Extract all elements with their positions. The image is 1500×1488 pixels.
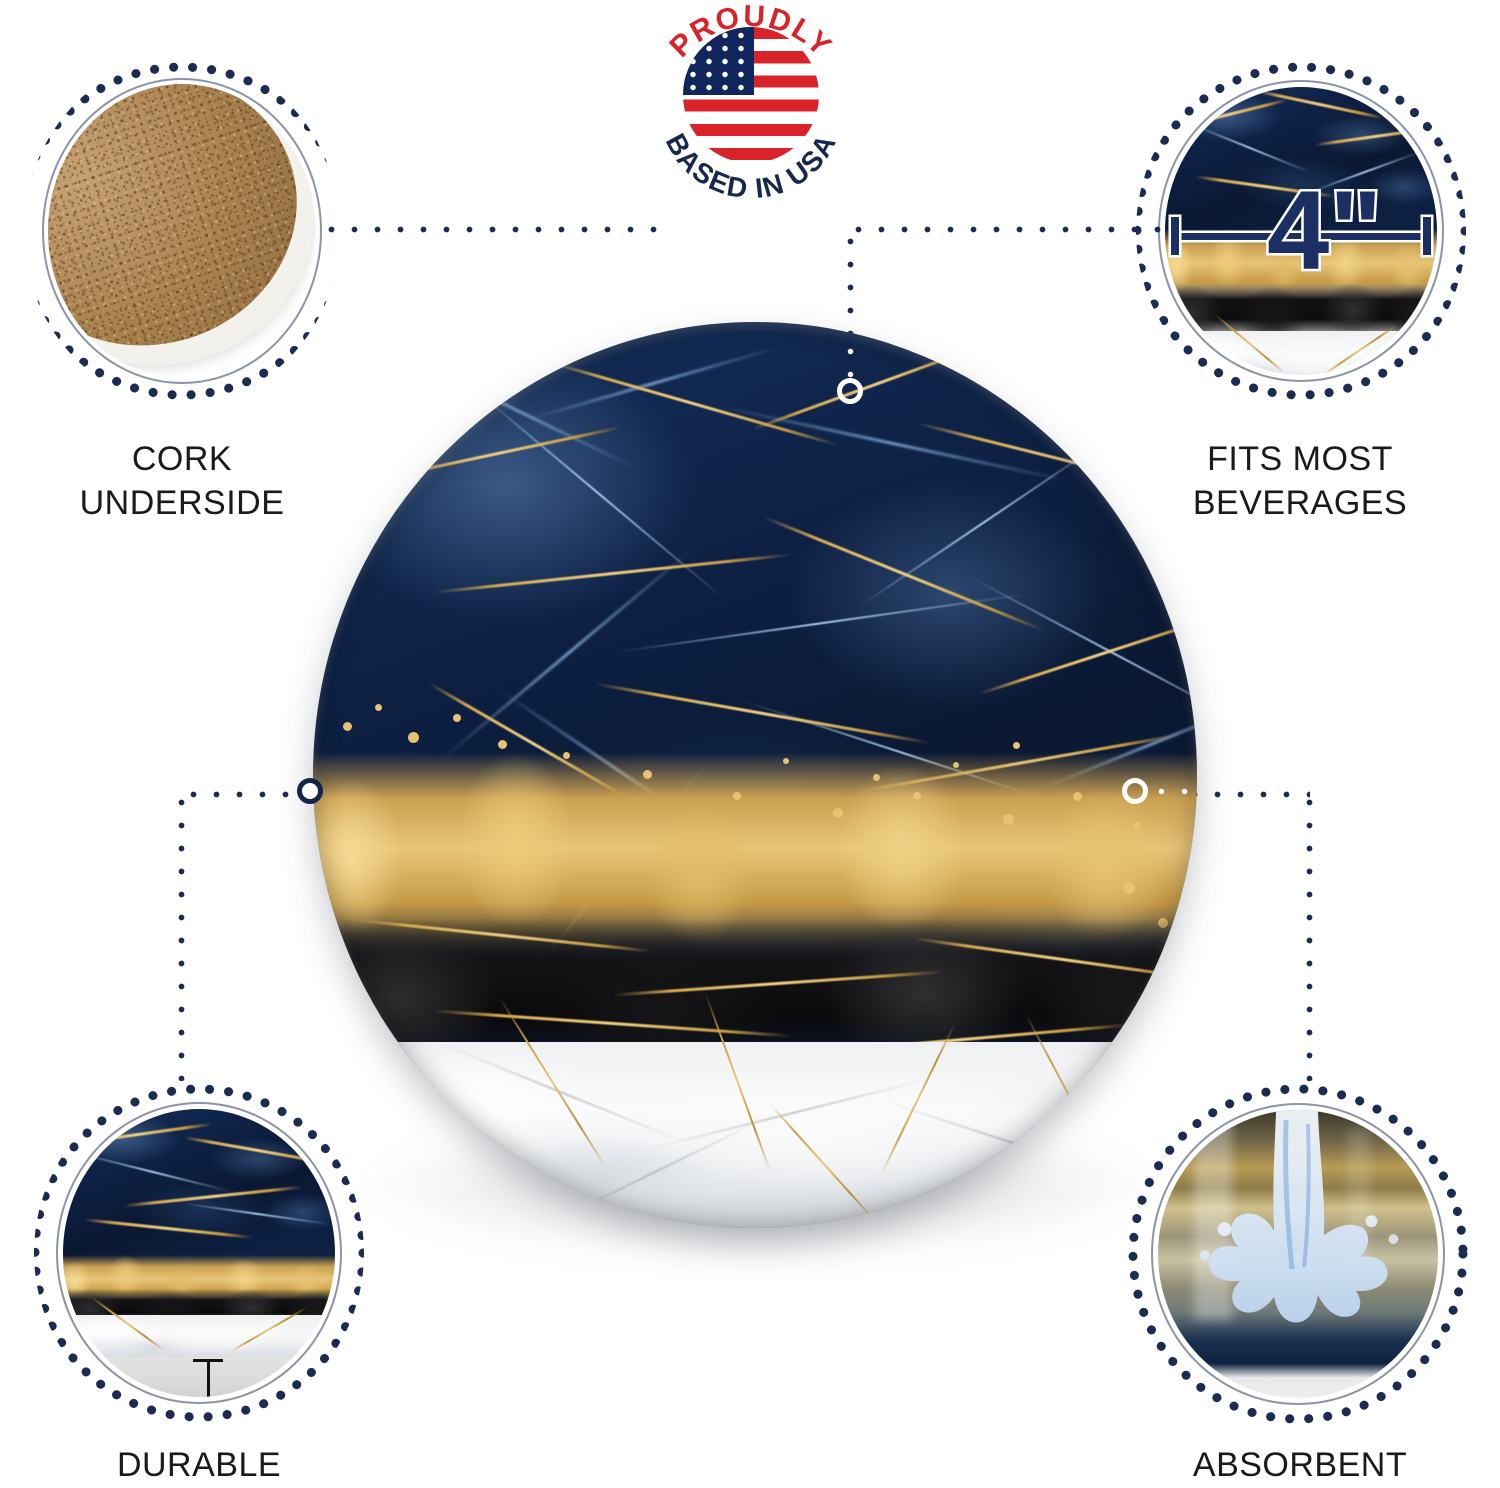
diameter-value-text: 4"	[1267, 168, 1382, 293]
coaster-body	[313, 322, 1197, 1228]
anchor-absorbent	[1122, 778, 1148, 804]
svg-text:BASED IN USA: BASED IN USA	[660, 128, 843, 204]
cork-texture	[48, 84, 316, 378]
feature-label-cork-underside: CORK UNDERSIDE	[24, 438, 340, 525]
anchor-cork-dots	[847, 340, 854, 382]
anchor-durable	[297, 778, 323, 804]
feature-bubble-cork-underside	[24, 58, 340, 404]
diameter-value: 4"	[1267, 175, 1382, 287]
connector-absorbent-vertical	[1306, 791, 1313, 1081]
coaster-rim-highlight	[313, 322, 1197, 1228]
cork-disc-icon	[48, 84, 316, 378]
diameter-cap-left	[1171, 217, 1179, 255]
feature-label-durable: DURABLE	[34, 1444, 364, 1488]
infographic-canvas: PROUDLY BASED IN USA CORK UNDERSIDE	[0, 0, 1500, 1487]
badge-arc-text: PROUDLY BASED IN USA	[645, 2, 857, 214]
diameter-cap-right	[1423, 217, 1431, 255]
connector-fits-beverages-horizontal	[847, 226, 1162, 233]
thickness-measure-icon: 1/2"	[63, 1109, 335, 1397]
thickness-ibeam-stem	[207, 1359, 210, 1397]
connector-durable-vertical	[178, 791, 185, 1081]
badge-bottom-text: BASED IN USA	[660, 128, 843, 204]
thickness-ibeam-top	[193, 1359, 223, 1362]
svg-text:PROUDLY: PROUDLY	[663, 2, 838, 64]
feature-bubble-fits-most-beverages: 4"	[1136, 58, 1466, 404]
badge-top-text: PROUDLY	[663, 2, 838, 64]
feature-bubble-absorbent	[1128, 1080, 1468, 1428]
coaster-side-slab	[63, 1357, 335, 1397]
anchor-absorbent-dots	[1150, 788, 1198, 795]
feature-label-fits-most-beverages: FITS MOST BEVERAGES	[1120, 438, 1480, 525]
proudly-based-in-usa-badge: PROUDLY BASED IN USA	[645, 2, 857, 214]
diameter-measure-icon: 4"	[1165, 87, 1437, 375]
water-splash-icon	[1158, 1110, 1438, 1398]
connector-durable-horizontal	[182, 791, 314, 798]
feature-bubble-durable: 1/2"	[34, 1080, 364, 1426]
connector-cork-underside-vertical	[664, 226, 671, 234]
splash-shape	[1158, 1110, 1438, 1398]
feature-label-absorbent: ABSORBENT	[1120, 1444, 1480, 1488]
